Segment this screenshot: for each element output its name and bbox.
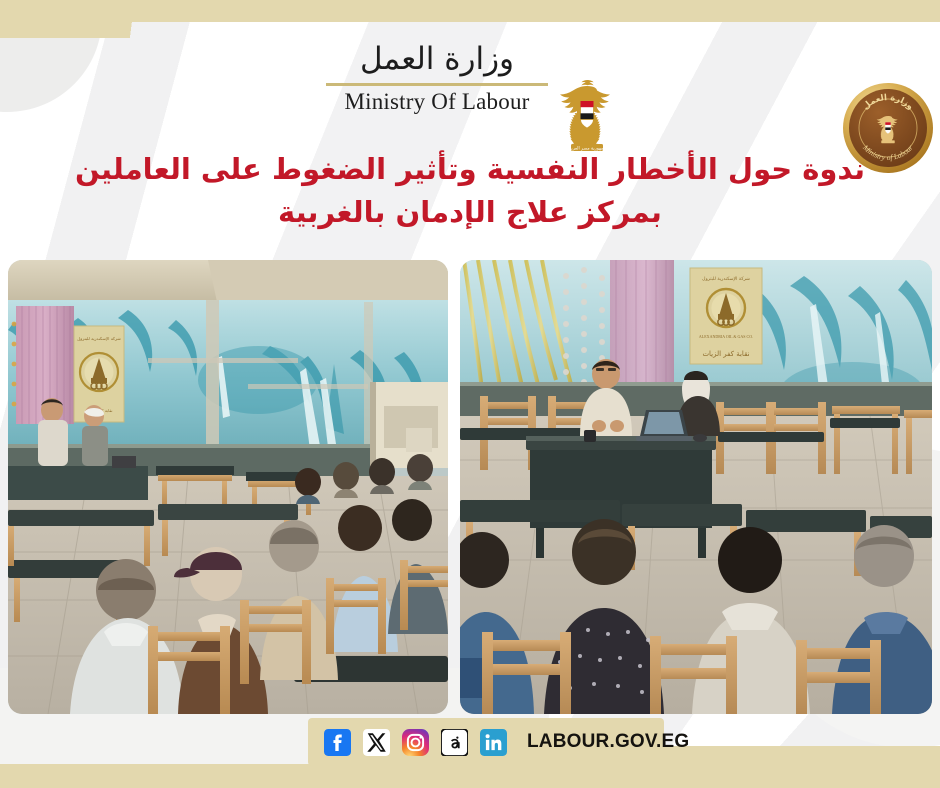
headline-title: ندوة حول الأخطار النفسية وتأثير الضغوط ع… bbox=[50, 148, 890, 234]
headline-line-1: ندوة حول الأخطار النفسية وتأثير الضغوط ع… bbox=[50, 148, 890, 191]
x-twitter-icon[interactable] bbox=[363, 729, 390, 756]
instagram-icon[interactable] bbox=[402, 729, 429, 756]
website-url-text[interactable]: LABOUR.GOV.EG bbox=[527, 731, 689, 753]
svg-text:نقابة كفر الزيات: نقابة كفر الزيات bbox=[702, 350, 749, 358]
svg-text:ALEXANDRIA OIL & GAS CO.: ALEXANDRIA OIL & GAS CO. bbox=[699, 334, 753, 339]
photo-right-illustration: شركة الإسكندرية للبترول ALEXANDRIA OIL &… bbox=[460, 260, 932, 714]
eagle-of-saladin-icon: جمهورية مصر العربية bbox=[552, 76, 622, 158]
linkedin-icon[interactable] bbox=[480, 729, 507, 756]
bottom-accent-bar bbox=[0, 764, 940, 788]
photo-gallery: شركة الإسكندرية للبترول نقابة كفر الزيات bbox=[8, 260, 932, 714]
threads-icon[interactable] bbox=[441, 729, 468, 756]
headline-line-2: بمركز علاج الإدمان بالغربية bbox=[50, 191, 890, 234]
photo-speakers-at-desk[interactable]: شركة الإسكندرية للبترول ALEXANDRIA OIL &… bbox=[460, 260, 932, 714]
top-accent-bar bbox=[0, 0, 940, 22]
facebook-icon[interactable] bbox=[324, 729, 351, 756]
photo-seminar-audience-wide[interactable]: شركة الإسكندرية للبترول نقابة كفر الزيات bbox=[8, 260, 448, 714]
wordmark-arabic-text: وزارة العمل bbox=[318, 42, 556, 78]
wordmark-divider bbox=[326, 83, 548, 86]
photo-left-illustration: شركة الإسكندرية للبترول نقابة كفر الزيات bbox=[8, 260, 448, 714]
wordmark-english-text: Ministry Of Labour bbox=[318, 89, 556, 115]
poster-header: وزارة العمل Ministry Of Labour جمهورية م… bbox=[0, 34, 940, 144]
svg-text:شركة الإسكندرية للبترول: شركة الإسكندرية للبترول bbox=[702, 276, 750, 282]
social-footer-bar: LABOUR.GOV.EG bbox=[308, 718, 664, 766]
ministry-wordmark: وزارة العمل Ministry Of Labour bbox=[318, 42, 556, 115]
poster-canvas: وزارة العمل Ministry Of Labour جمهورية م… bbox=[0, 0, 940, 788]
